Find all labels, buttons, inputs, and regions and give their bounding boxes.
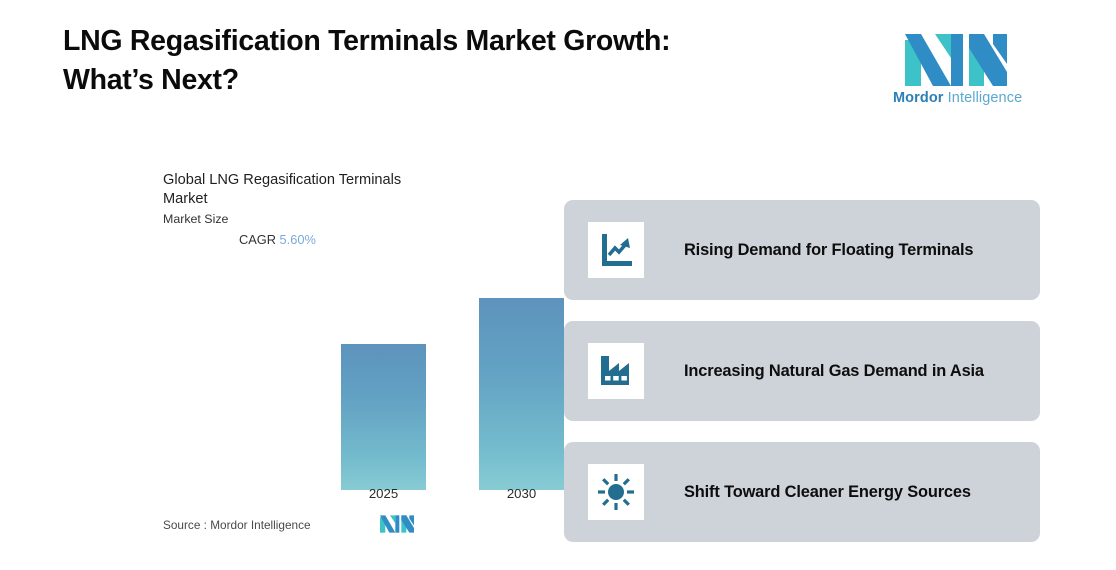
page-header: LNG Regasification Terminals Market Grow… <box>0 0 1116 125</box>
driver-card-label: Rising Demand for Floating Terminals <box>684 200 973 300</box>
line-chart-up-icon <box>588 222 644 278</box>
bar-2030 <box>479 298 564 490</box>
chart-subtitle: Market Size <box>163 212 228 226</box>
driver-card-asia-gas-demand[interactable]: Increasing Natural Gas Demand in Asia <box>564 321 1040 421</box>
chart-plot-area: 2025 2030 <box>155 280 455 490</box>
bar-2025 <box>341 344 426 490</box>
mordor-logo-mark-small-icon <box>380 513 414 533</box>
driver-card-cleaner-energy[interactable]: Shift Toward Cleaner Energy Sources <box>564 442 1040 542</box>
chart-source-label: Source : Mordor Intelligence <box>163 518 311 532</box>
chart-cagr-annotation: CAGR 5.60% <box>239 232 316 247</box>
driver-card-label: Increasing Natural Gas Demand in Asia <box>684 321 984 421</box>
page-title: LNG Regasification Terminals Market Grow… <box>63 22 843 100</box>
brand-logo: Mordor Intelligence <box>893 28 1018 110</box>
cagr-value: 5.60% <box>280 232 316 247</box>
driver-card-label: Shift Toward Cleaner Energy Sources <box>684 442 971 542</box>
brand-wordmark: Mordor Intelligence <box>893 90 1018 106</box>
market-size-chart: Global LNG Regasification Terminals Mark… <box>155 160 455 550</box>
bar-label-2025: 2025 <box>341 486 426 501</box>
driver-card-floating-terminals[interactable]: Rising Demand for Floating Terminals <box>564 200 1040 300</box>
bar-label-2030: 2030 <box>479 486 564 501</box>
brand-name-light: Intelligence <box>944 90 1023 106</box>
factory-icon <box>588 343 644 399</box>
mordor-logo-mark-icon <box>905 28 1007 86</box>
key-drivers-list: Rising Demand for Floating Terminals Inc… <box>564 200 1040 544</box>
chart-title: Global LNG Regasification Terminals Mark… <box>163 171 431 209</box>
brand-name-bold: Mordor <box>893 90 944 106</box>
cagr-label: CAGR <box>239 232 280 247</box>
sun-icon <box>588 464 644 520</box>
